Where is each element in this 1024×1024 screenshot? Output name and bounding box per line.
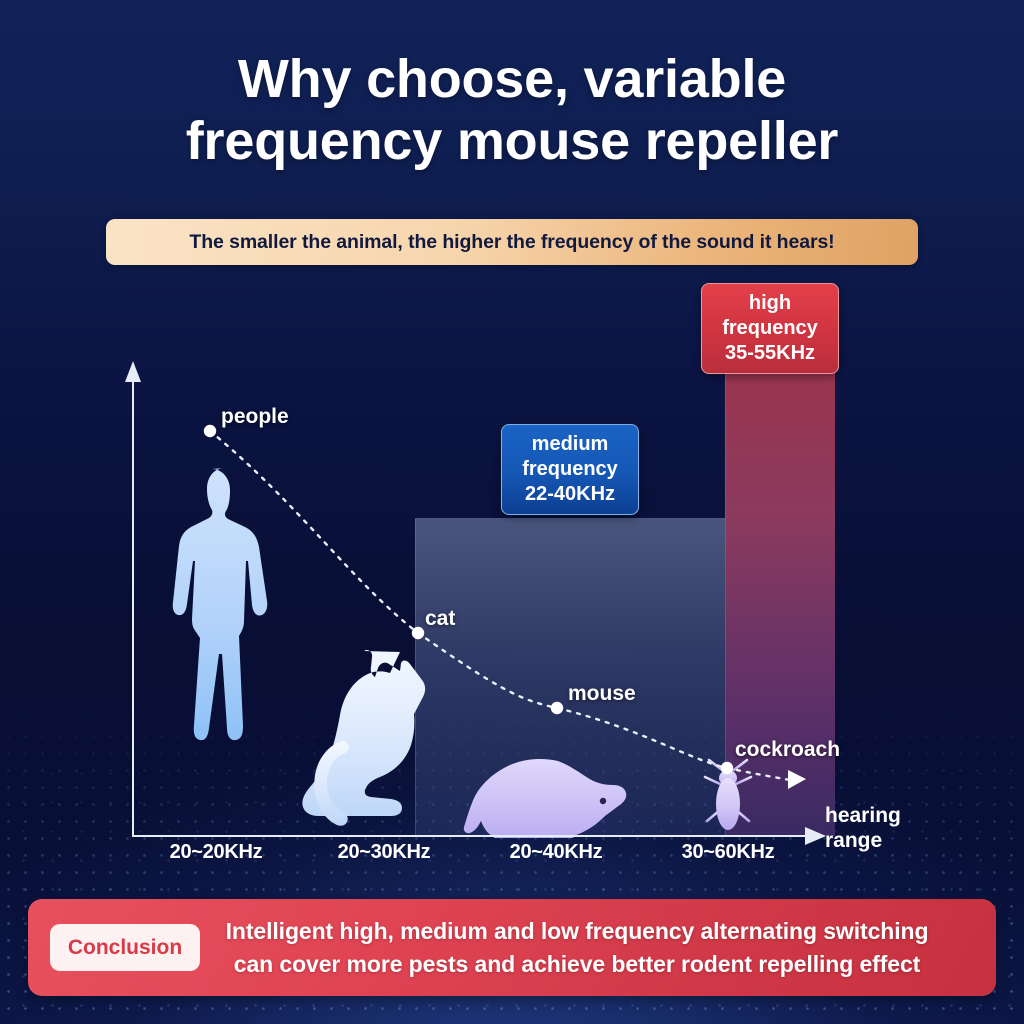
y-axis-arrow-icon bbox=[125, 361, 141, 382]
conclusion-banner: Conclusion Intelligent high, medium and … bbox=[28, 899, 996, 996]
curve-label-cockroach: cockroach bbox=[735, 738, 840, 762]
infographic-poster: Why choose, variable frequency mouse rep… bbox=[0, 0, 1024, 1024]
frequency-curve bbox=[0, 0, 1024, 1024]
y-axis-line bbox=[132, 378, 134, 836]
conclusion-line-2: can cover more pests and achieve better … bbox=[216, 948, 938, 981]
x-axis-caption: hearing range bbox=[825, 803, 901, 853]
x-axis-caption-line-1: hearing bbox=[825, 803, 901, 828]
curve-label-mouse: mouse bbox=[568, 682, 636, 706]
curve-label-cat: cat bbox=[425, 607, 455, 631]
x-axis-line bbox=[132, 835, 812, 837]
curve-point-people bbox=[204, 425, 216, 437]
x-axis-caption-line-2: range bbox=[825, 828, 901, 853]
curve-point-mouse bbox=[551, 702, 563, 714]
conclusion-text: Intelligent high, medium and low frequen… bbox=[216, 915, 974, 981]
conclusion-line-1: Intelligent high, medium and low frequen… bbox=[226, 918, 929, 944]
x-tick-label-4: 30~60KHz bbox=[638, 841, 818, 864]
curve-point-cockroach bbox=[721, 762, 733, 774]
hearing-range-chart: high frequency 35-55KHz medium frequency… bbox=[0, 0, 1024, 1024]
x-tick-label-2: 20~30KHz bbox=[294, 841, 474, 864]
curve-label-people: people bbox=[221, 405, 289, 429]
curve-point-cat bbox=[412, 627, 424, 639]
x-tick-label-1: 20~20KHz bbox=[126, 841, 306, 864]
x-tick-label-3: 20~40KHz bbox=[466, 841, 646, 864]
conclusion-chip: Conclusion bbox=[50, 924, 200, 971]
